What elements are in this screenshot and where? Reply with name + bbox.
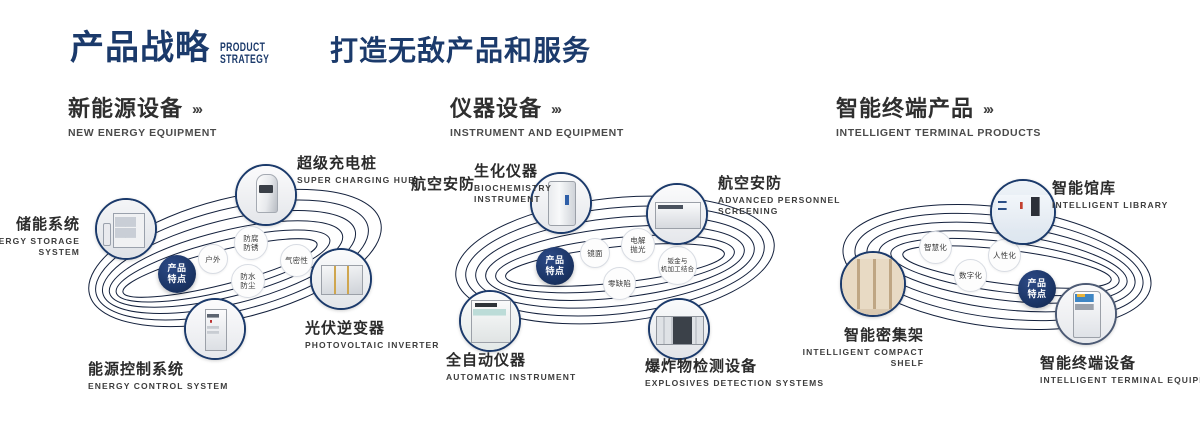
section-title-en: INSTRUMENT AND EQUIPMENT [450,127,624,139]
caption-en: INTELLIGENT TERMINAL EQUIPMENT [1040,375,1200,386]
node-intelligent-terminal-equipment[interactable] [1055,283,1117,345]
caption-en: INTELLIGENT LIBRARY [1052,200,1168,211]
section-title-cn: 仪器设备 ››› [450,96,624,122]
caption-cn: 智能终端设备 [1040,355,1200,373]
explosives-detection-photo [650,300,708,358]
feature-bubble: 镜面 [580,238,610,268]
caption-en: SUPER CHARGING HUB [297,175,416,186]
node-energy-storage-system[interactable] [95,198,157,260]
section-title-new-energy: 新能源设备 ››› NEW ENERGY EQUIPMENT [68,96,217,139]
node-advanced-personnel-screening[interactable] [646,183,708,245]
intelligent-compact-shelf-photo [842,253,904,315]
feature-bubble: 气密性 [280,244,313,277]
section-title-intelligent-terminal: 智能终端产品 ››› INTELLIGENT TERMINAL PRODUCTS [836,96,1041,139]
caption-en: ENERGY CONTROL SYSTEM [88,381,228,392]
chevron-right-icon: ››› [551,102,560,117]
section-title-cn: 智能终端产品 ››› [836,96,1041,122]
feature-bubble: 户外 [198,244,228,274]
section-title-instrument: 仪器设备 ››› INSTRUMENT AND EQUIPMENT [450,96,624,139]
feature-bubble: 钣金与 机加工结合 [658,246,697,285]
feature-bubble: 零缺陷 [603,267,636,300]
node-explosives-detection-systems[interactable] [648,298,710,360]
energy-storage-cabinet-photo [97,200,155,258]
core-line-1: 产品 [167,263,186,274]
core-line-1: 产品 [545,255,564,266]
cluster-new-energy: 产品 特点 户外 防腐 防锈 气密性 防水 防尘 [40,150,420,390]
node-intelligent-library[interactable] [990,179,1056,245]
personnel-screening-photo [648,185,706,243]
node-automatic-instrument[interactable] [459,290,521,352]
caption-cn: 储能系统 [0,216,80,234]
caption-cn: 生化仪器 [474,163,552,181]
node-energy-control-system[interactable] [184,298,246,360]
caption-en: ENERGY STORAGE SYSTEM [0,236,80,258]
node-photovoltaic-inverter[interactable] [310,248,372,310]
page-subtitle: 打造无敌产品和服务 [330,32,591,70]
chevron-right-icon: ››› [983,102,992,117]
intelligent-terminal-equipment-photo [1057,285,1115,343]
core-line-2: 特点 [167,274,186,285]
page-title-en-line2: STRATEGY [220,53,269,65]
page-title: 产品战略 PRODUCT STRATEGY [70,28,288,68]
section-title-text: 新能源设备 [68,96,183,122]
caption-cn: 能源控制系统 [88,361,228,379]
node-super-charging-hub[interactable] [235,164,297,226]
caption-cn: 航空安防 [411,176,475,194]
super-charging-hub-photo [237,166,295,224]
caption-aside-aviation-security: 航空安防 [411,176,475,194]
caption-cn: 智能馆库 [1052,180,1168,198]
feature-bubble: 数字化 [954,259,987,292]
automatic-instrument-photo [461,292,519,350]
caption-en: INTELLIGENT COMPACT SHELF [780,347,924,369]
photovoltaic-inverter-photo [312,250,370,308]
feature-bubble: 智慧化 [919,231,952,264]
core-bubble-product-features: 产品 特点 [536,247,574,285]
chevron-right-icon: ››› [192,102,201,117]
caption-intelligent-compact-shelf: 智能密集架 INTELLIGENT COMPACT SHELF [780,327,924,369]
feature-bubble: 防腐 防锈 [234,226,268,260]
caption-automatic-instrument: 全自动仪器 AUTOMATIC INSTRUMENT [446,352,576,383]
node-intelligent-compact-shelf[interactable] [840,251,906,317]
page-title-en: PRODUCT STRATEGY [220,41,269,65]
caption-cn: 智能密集架 [780,327,924,345]
core-bubble-product-features: 产品 特点 [158,255,196,293]
feature-bubble: 防水 防尘 [231,264,265,298]
caption-super-charging-hub: 超级充电桩 SUPER CHARGING HUB [297,155,416,186]
section-title-en: NEW ENERGY EQUIPMENT [68,127,217,139]
caption-intelligent-library: 智能馆库 INTELLIGENT LIBRARY [1052,180,1168,211]
caption-biochemistry-instrument: 生化仪器 BIOCHEMISTRY INSTRUMENT [474,163,552,205]
section-title-text: 仪器设备 [450,96,542,122]
page-title-cn: 产品战略 [70,28,210,68]
caption-cn: 全自动仪器 [446,352,576,370]
core-line-2: 特点 [1027,289,1046,300]
section-title-cn: 新能源设备 ››› [68,96,217,122]
caption-en: BIOCHEMISTRY INSTRUMENT [474,183,552,205]
infographic-page: 产品战略 PRODUCT STRATEGY 打造无敌产品和服务 新能源设备 ››… [0,0,1200,422]
core-line-2: 特点 [545,266,564,277]
caption-en: AUTOMATIC INSTRUMENT [446,372,576,383]
core-line-1: 产品 [1027,278,1046,289]
core-bubble-product-features: 产品 特点 [1018,270,1056,308]
intelligent-library-photo [992,181,1054,243]
caption-energy-storage-system: 储能系统 ENERGY STORAGE SYSTEM [0,216,80,258]
section-title-en: INTELLIGENT TERMINAL PRODUCTS [836,127,1041,139]
caption-cn: 超级充电桩 [297,155,416,173]
section-title-text: 智能终端产品 [836,96,974,122]
energy-control-system-photo [186,300,244,358]
caption-en: EXPLOSIVES DETECTION SYSTEMS [645,378,824,389]
caption-intelligent-terminal-equipment: 智能终端设备 INTELLIGENT TERMINAL EQUIPMENT [1040,355,1200,386]
caption-energy-control-system: 能源控制系统 ENERGY CONTROL SYSTEM [88,361,228,392]
